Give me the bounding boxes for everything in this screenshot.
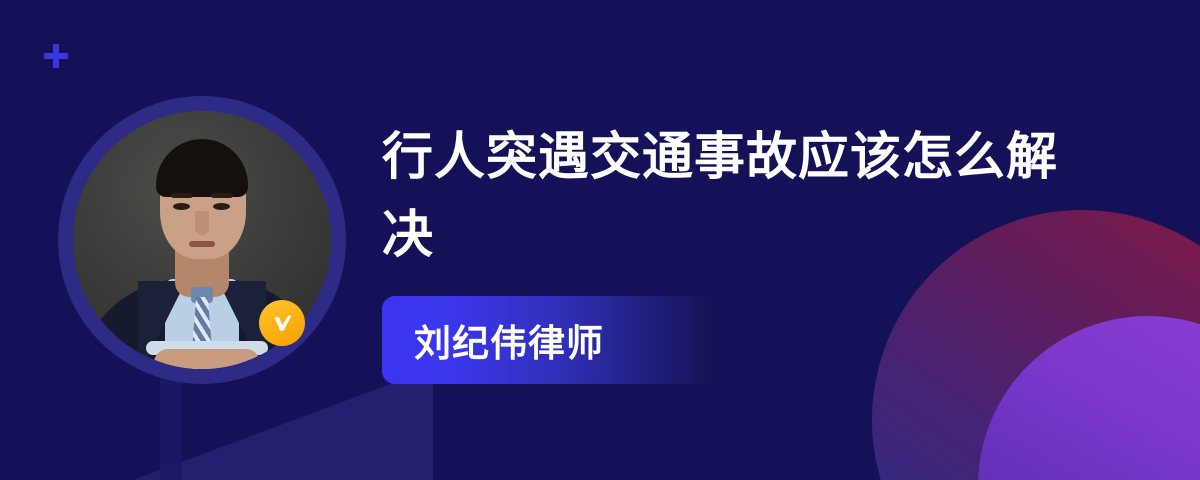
portrait-brow-right [211,193,233,198]
plus-icon [44,44,68,68]
decorative-triangle [133,368,433,480]
lawyer-name-button[interactable]: 刘纪伟律师 [382,296,716,384]
portrait-eye-right [213,203,230,210]
avatar [58,96,346,384]
plus-icon-vertical-bar [53,44,59,68]
verified-check-icon [259,300,305,346]
portrait-hands [154,349,260,369]
content-block: 行人突遇交通事故应该怎么解决 刘纪伟律师 [382,118,1172,384]
portrait-brow-left [171,193,193,198]
portrait-mouth [189,241,215,247]
portrait-nose [195,211,209,235]
promo-banner: 行人突遇交通事故应该怎么解决 刘纪伟律师 [0,0,1200,480]
portrait-eye-left [173,203,190,210]
page-title: 行人突遇交通事故应该怎么解决 [382,118,1082,274]
